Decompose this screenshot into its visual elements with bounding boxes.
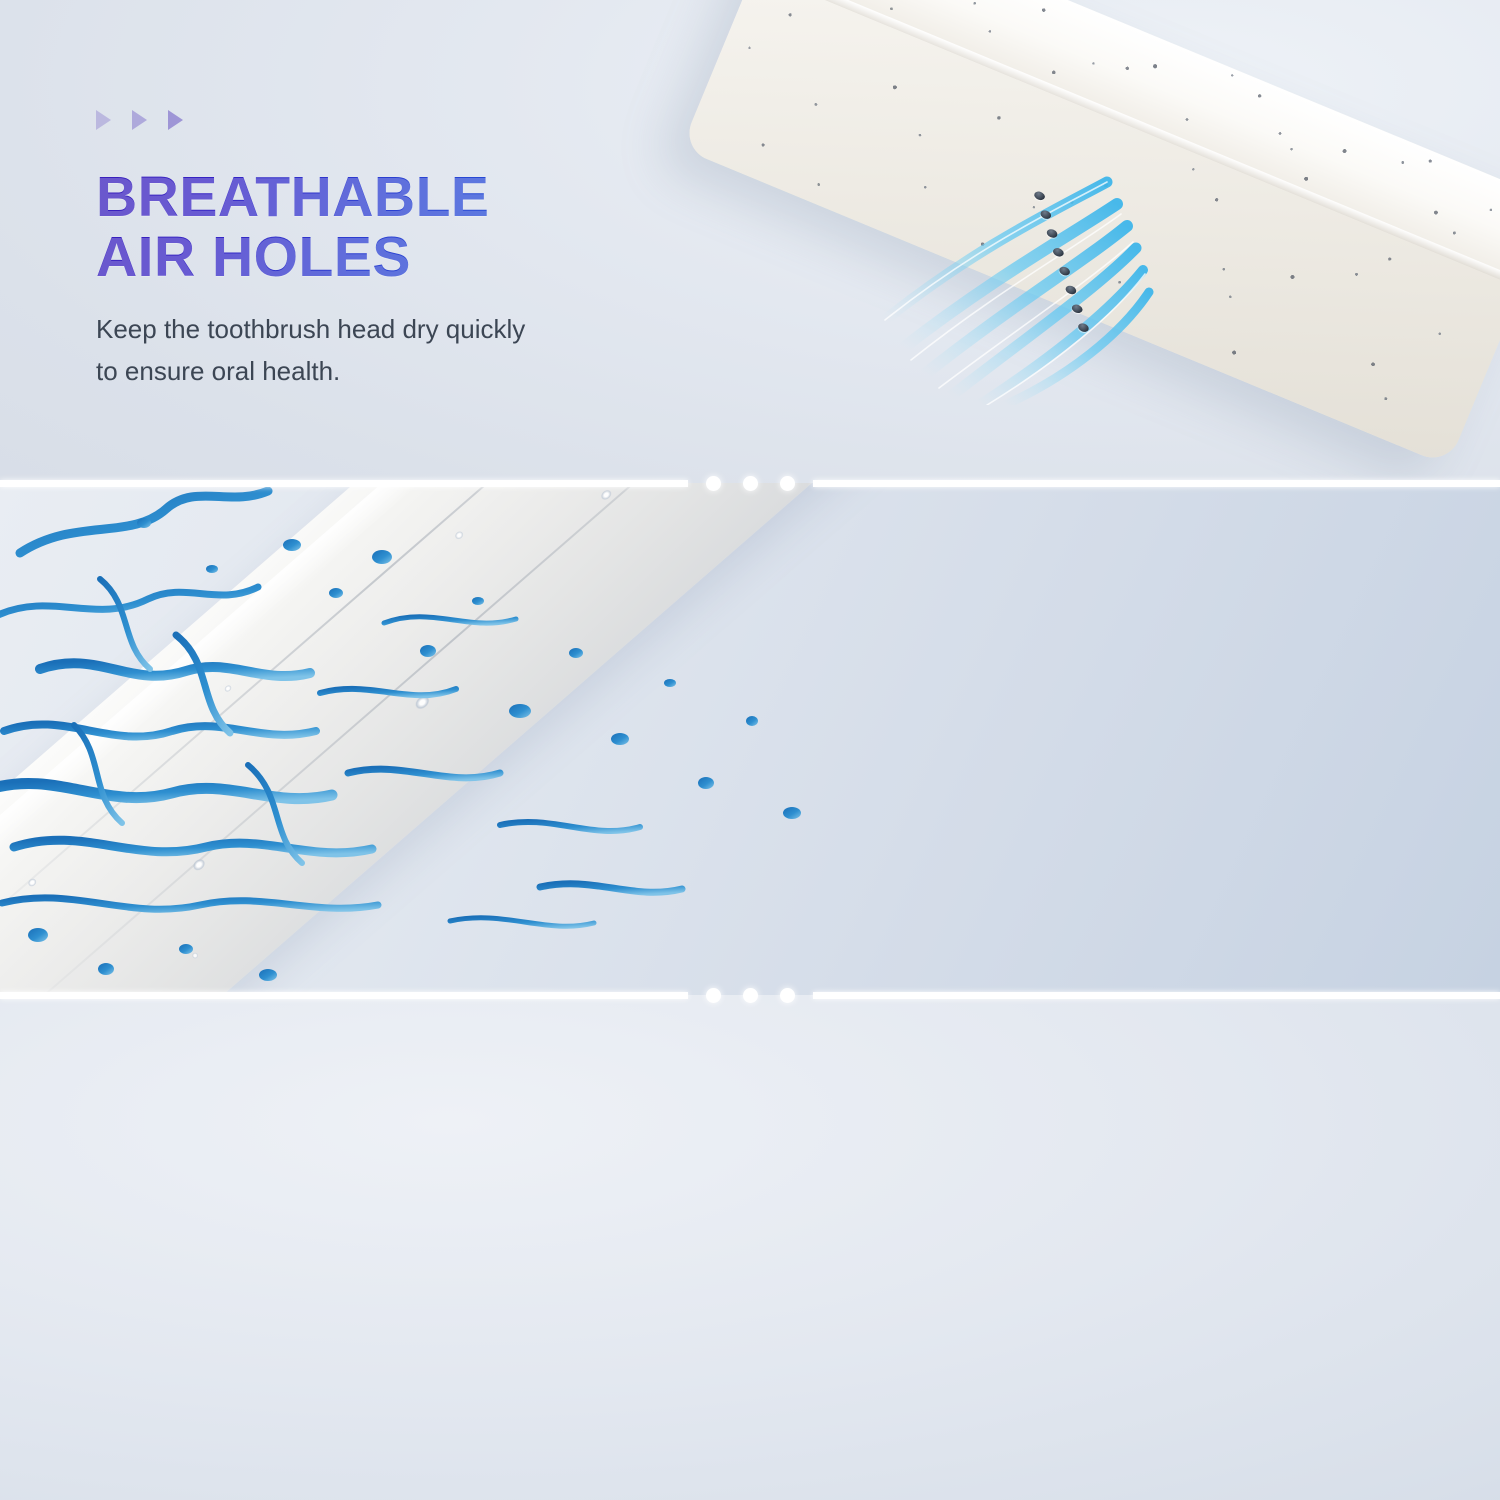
divider-dot [743,476,758,491]
panel-heading: BREATHABLE AIR HOLES [96,168,525,288]
divider-dots [688,988,813,1003]
divider-bar-right [813,480,1500,487]
panel-background [0,995,1500,1500]
divider-bar-right [813,992,1500,999]
divider-dot [780,988,795,1003]
divider-dot [706,988,721,1003]
panel-breathable-air-holes: BREATHABLE AIR HOLES Keep the toothbrush… [0,0,1500,483]
panel-subtext: Keep the toothbrush head dry quickly to … [96,308,525,392]
divider-dot [706,476,721,491]
panel-ipx7-waterproof: IPX7 WATERPROOF Whole body washable [0,483,1500,995]
divider-bar-left [0,480,688,487]
triangle-right-icon [132,110,147,130]
triangle-right-icon [168,110,183,130]
divider-dot [743,988,758,1003]
section-divider [0,477,1500,489]
water-splash-image [0,483,880,995]
air-text-block: BREATHABLE AIR HOLES Keep the toothbrush… [96,110,525,392]
triangle-right-icon [96,110,111,130]
panel-anti-resistant: ANTI-RESISTANT Great protection by high-… [0,995,1500,1500]
divider-bar-left [0,992,688,999]
arrow-indicator-group [96,110,525,130]
airflow-streams-icon [855,170,1155,405]
infographic-page: BREATHABLE AIR HOLES Keep the toothbrush… [0,0,1500,1500]
divider-dot [780,476,795,491]
section-divider [0,989,1500,1001]
divider-dots [688,476,813,491]
